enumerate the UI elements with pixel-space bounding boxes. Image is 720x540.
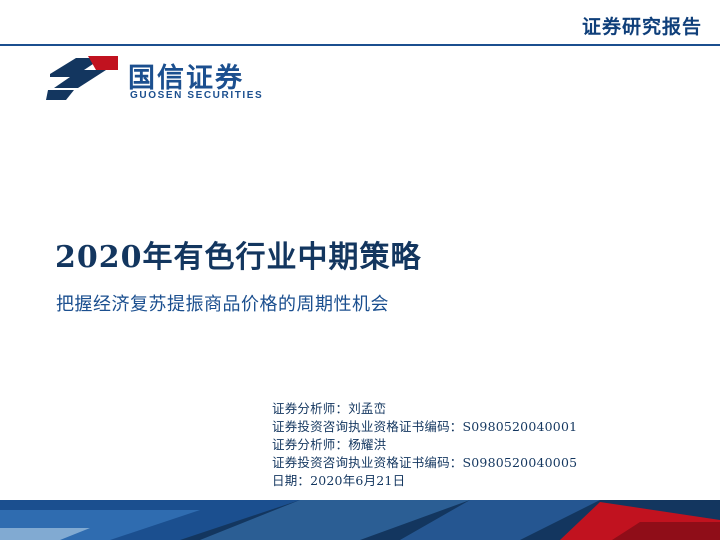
header-divider [0,44,720,46]
page-title: 2020年有色行业中期策略 [55,232,422,276]
analyst-line: 证券投资咨询执业资格证书编码：S0980520040005 [272,454,577,472]
logo-name-en: GUOSEN SECURITIES [130,90,263,101]
slide-root: 证券研究报告 国信证券 GUOSEN SECURITIES 2020年有色行业中… [0,0,720,540]
analyst-info-block: 证券分析师：刘孟峦 证券投资咨询执业资格证书编码：S0980520040001 … [272,400,577,490]
brand-logo: 国信证券 GUOSEN SECURITIES [44,52,344,110]
analyst-line: 证券投资咨询执业资格证书编码：S0980520040001 [272,418,577,436]
page-subtitle: 把握经济复苏提振商品价格的周期性机会 [56,290,389,316]
analyst-line: 证券分析师：刘孟峦 [272,400,577,418]
guosen-logo-mark-icon [44,54,122,104]
footer-decoration [0,488,720,540]
report-type-label: 证券研究报告 [582,12,702,39]
analyst-line: 证券分析师：杨耀洪 [272,436,577,454]
